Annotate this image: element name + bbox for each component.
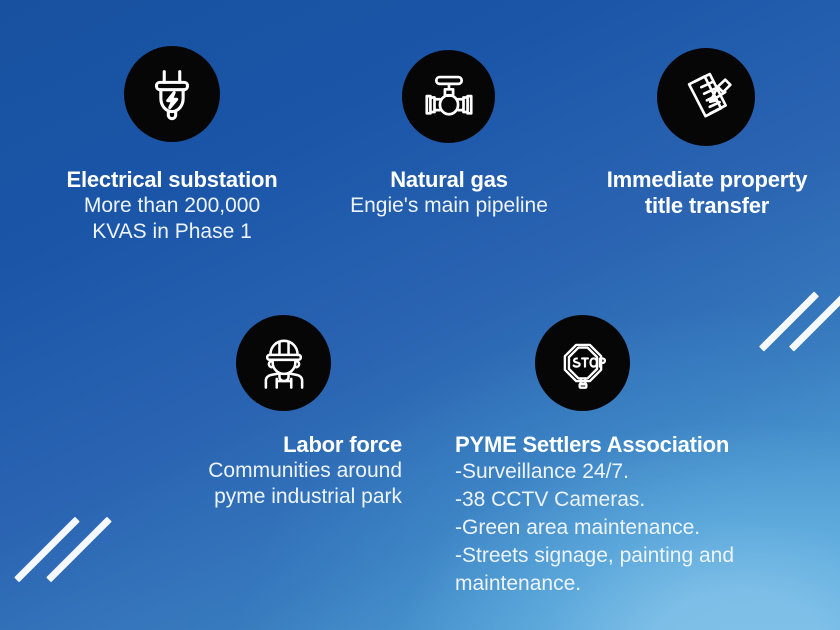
document-pencil-icon — [657, 48, 755, 146]
feature-text-block: Electrical substation More than 200,000 … — [22, 167, 322, 245]
stripe-bar — [789, 291, 840, 351]
construction-worker-icon — [236, 315, 331, 411]
feature-title: Labor force — [120, 432, 402, 458]
feature-text-block: Natural gas Engie's main pipeline — [318, 167, 580, 219]
feature-title: Natural gas — [318, 167, 580, 193]
feature-body: Communities around pyme industrial park — [120, 458, 402, 510]
feature-text-block: PYME Settlers Association -Surveillance … — [455, 432, 815, 598]
feature-body: -Surveillance 24/7. -38 CCTV Cameras. -G… — [455, 458, 815, 598]
stripe-bar — [14, 517, 80, 583]
stripe-bar — [759, 291, 819, 351]
decorative-stripes-bottom-left — [10, 516, 130, 596]
infographic-slide: Electrical substation More than 200,000 … — [0, 0, 840, 630]
feature-title: Electrical substation — [22, 167, 322, 193]
stripe-bar — [46, 517, 112, 583]
feature-text-block: Immediate property title transfer — [581, 167, 833, 219]
feature-text-block: Labor force Communities around pyme indu… — [120, 432, 402, 510]
power-plug-icon — [124, 46, 220, 142]
feature-body: Engie's main pipeline — [318, 193, 580, 219]
feature-title: PYME Settlers Association — [455, 432, 815, 458]
gas-valve-icon — [402, 50, 495, 143]
decorative-stripes-top-right — [756, 296, 840, 366]
feature-body: More than 200,000 KVAS in Phase 1 — [22, 193, 322, 245]
stop-sign-icon — [535, 315, 630, 411]
feature-title: Immediate property title transfer — [581, 167, 833, 219]
